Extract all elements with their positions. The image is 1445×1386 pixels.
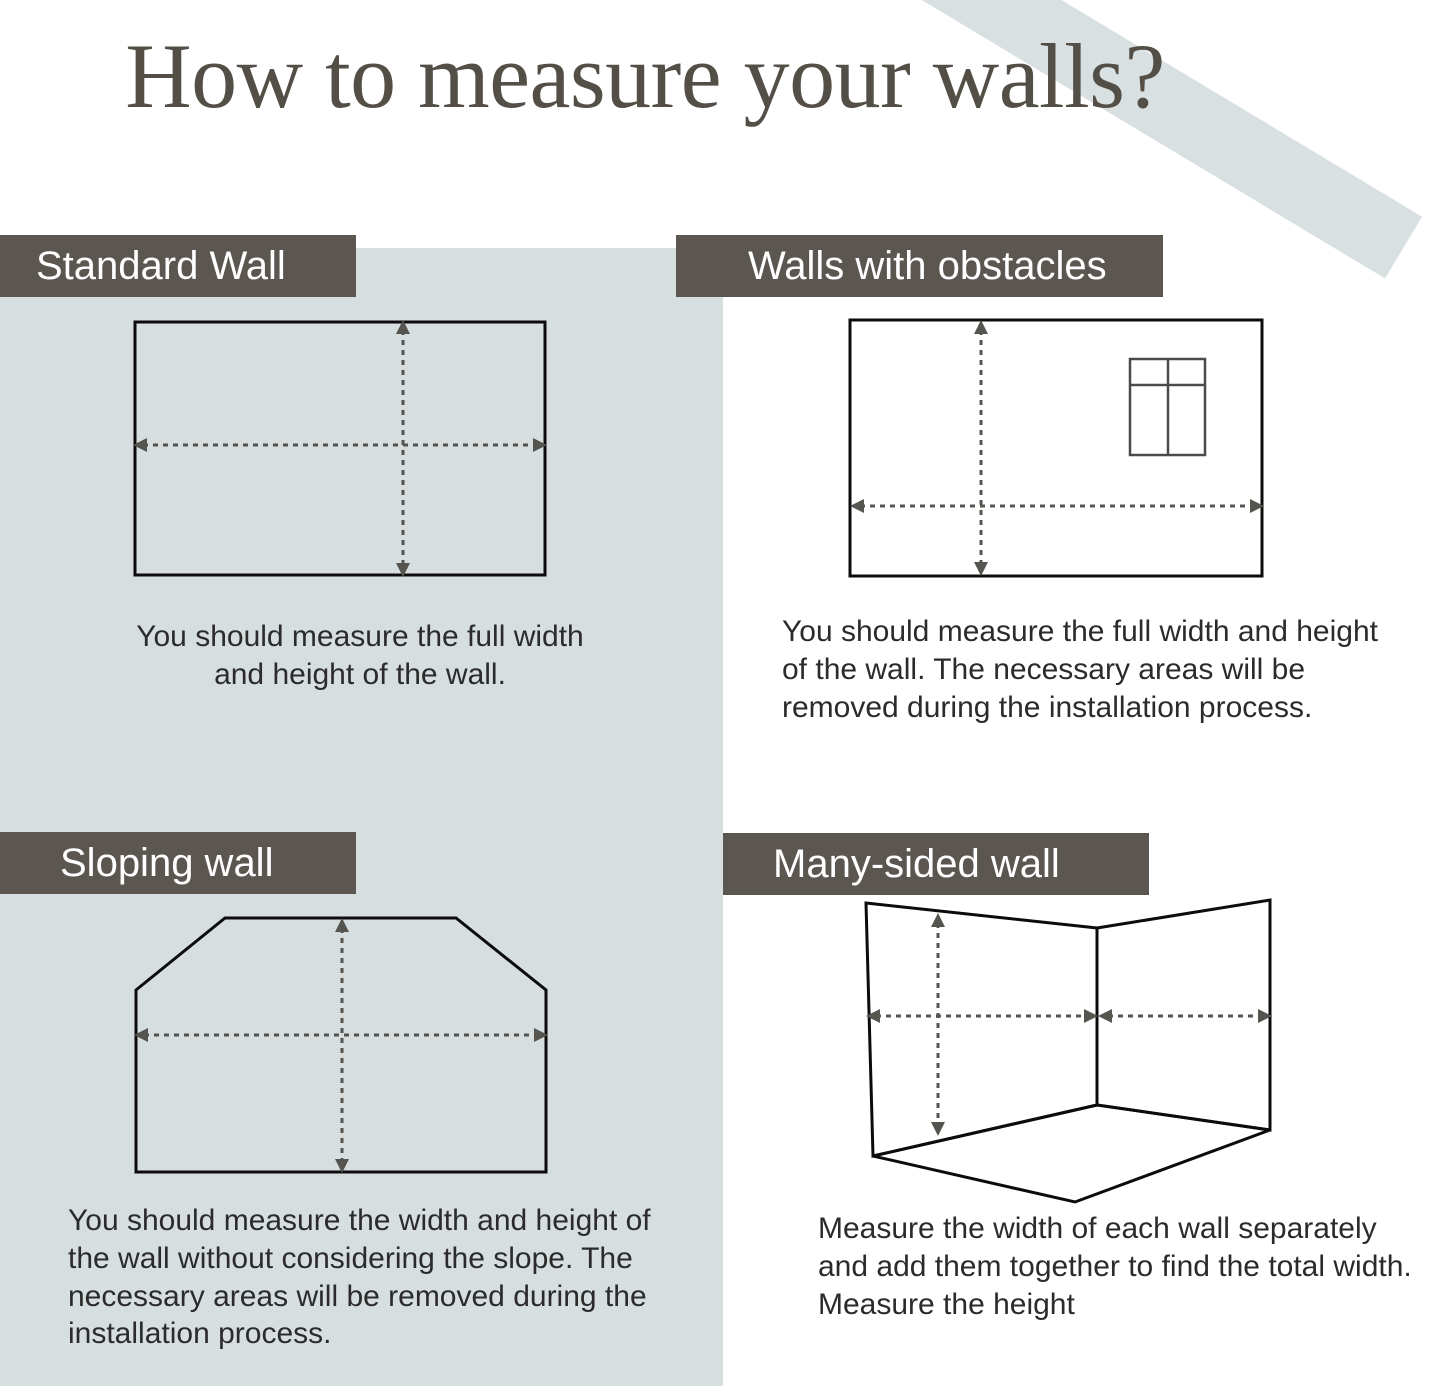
height-dimension-arrow: [931, 913, 945, 1136]
wall-outline: [136, 918, 546, 1172]
caption-many-sided-wall: Measure the width of each wall separatel…: [818, 1210, 1418, 1323]
height-dimension-arrow: [974, 320, 988, 576]
width-dimension-arrow: [133, 438, 547, 452]
left-wall-width-dimension-arrow: [866, 1009, 1098, 1023]
right-wall-width-dimension-arrow: [1098, 1009, 1272, 1023]
infographic-page: How to measure your walls? Standard Wall…: [0, 0, 1445, 1386]
page-title: How to measure your walls?: [0, 30, 1290, 122]
section-heading-label: Many-sided wall: [773, 844, 1060, 884]
section-heading-label: Walls with obstacles: [748, 246, 1107, 286]
section-heading-label: Sloping wall: [60, 843, 273, 883]
floor-outline: [873, 1105, 1270, 1202]
width-dimension-arrow: [850, 499, 1264, 513]
caption-standard-wall: You should measure the full width and he…: [110, 618, 610, 694]
wall-outline: [135, 322, 545, 575]
window-obstacle: [1130, 359, 1205, 455]
caption-sloping-wall: You should measure the width and height …: [68, 1202, 653, 1353]
section-heading-walls-with-obstacles: Walls with obstacles: [676, 235, 1163, 297]
section-heading-sloping-wall: Sloping wall: [0, 832, 356, 894]
diagram-many-sided-wall: [840, 890, 1310, 1220]
section-heading-standard-wall: Standard Wall: [0, 235, 356, 297]
section-heading-many-sided-wall: Many-sided wall: [723, 833, 1149, 895]
caption-walls-with-obstacles: You should measure the full width and he…: [782, 613, 1407, 726]
diagram-standard-wall: [110, 300, 580, 605]
diagram-sloping-wall: [110, 895, 580, 1200]
height-dimension-arrow: [335, 918, 349, 1173]
diagram-walls-with-obstacles: [820, 300, 1300, 605]
left-wall-outline: [866, 903, 1097, 1156]
height-dimension-arrow: [396, 320, 410, 577]
section-heading-label: Standard Wall: [36, 246, 286, 286]
